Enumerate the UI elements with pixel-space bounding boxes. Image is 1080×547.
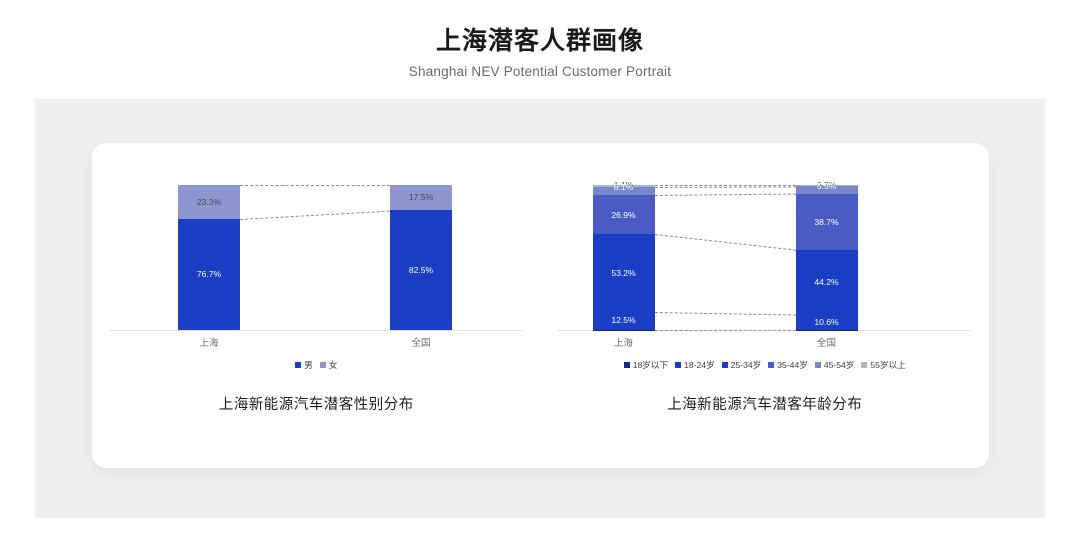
bar-segment-label: 82.5% (409, 266, 433, 275)
age-chart-category-labels: 上海全国 (541, 335, 990, 351)
legend-item-55岁以上[interactable]: 55岁以上 (861, 359, 905, 371)
gender-chart: 23.3%76.7%17.5%82.5% 上海全国 男女 上海新能源汽车潜客性别… (92, 143, 541, 468)
stacked-bar-上海[interactable]: 1.1%6.1%26.9%53.2%12.5%0.2% (593, 185, 655, 330)
legend-item-18-24岁[interactable]: 18-24岁 (675, 359, 715, 371)
bar-segment[interactable]: 23.3% (178, 185, 240, 219)
segment-connector-line (240, 210, 390, 219)
legend-item-男[interactable]: 男 (295, 359, 313, 371)
bar-segment[interactable]: 26.9% (593, 195, 655, 234)
bar-segment[interactable]: 5.5% (796, 186, 858, 194)
category-label-上海: 上海 (614, 335, 633, 349)
page-header: 上海潜客人群画像 Shanghai NEV Potential Customer… (0, 0, 1080, 100)
age-bars-area: 1.1%6.1%26.9%53.2%12.5%0.2%0.7%5.5%38.7%… (541, 185, 990, 330)
legend-item-label: 45-54岁 (824, 359, 855, 371)
legend-item-label: 女 (329, 359, 338, 371)
gender-chart-legend: 男女 (92, 359, 541, 371)
gender-chart-caption: 上海新能源汽车潜客性别分布 (92, 393, 541, 414)
bar-segment[interactable]: 17.5% (390, 185, 452, 210)
segment-connector-line (240, 185, 390, 186)
bar-segment-label: 10.6% (814, 318, 838, 327)
legend-item-45-54岁[interactable]: 45-54岁 (815, 359, 855, 371)
legend-item-女[interactable]: 女 (320, 359, 338, 371)
segment-connector-line (654, 312, 795, 316)
legend-item-label: 55岁以上 (870, 359, 905, 371)
legend-item-label: 18岁以下 (633, 359, 668, 371)
age-chart: 1.1%6.1%26.9%53.2%12.5%0.2%0.7%5.5%38.7%… (541, 143, 990, 468)
charts-row: 23.3%76.7%17.5%82.5% 上海全国 男女 上海新能源汽车潜客性别… (92, 143, 989, 468)
legend-swatch-icon (295, 362, 301, 368)
bar-segment[interactable]: 10.6% (796, 314, 858, 329)
stacked-bar-上海[interactable]: 23.3%76.7% (178, 185, 240, 330)
age-chart-caption: 上海新能源汽车潜客年龄分布 (541, 393, 990, 414)
legend-item-label: 男 (304, 359, 313, 371)
legend-swatch-icon (722, 362, 728, 368)
bar-segment-label: 38.7% (814, 218, 838, 227)
bar-segment-label: 17.5% (409, 193, 433, 202)
category-label-全国: 全国 (817, 335, 836, 349)
legend-swatch-icon (320, 362, 326, 368)
gender-bars-area: 23.3%76.7%17.5%82.5% (92, 185, 541, 330)
bar-segment[interactable]: 6.1% (593, 187, 655, 196)
legend-item-35-44岁[interactable]: 35-44岁 (768, 359, 808, 371)
bar-segment-label: 6.1% (614, 183, 634, 192)
bar-segment[interactable]: 44.2% (796, 250, 858, 314)
legend-swatch-icon (624, 362, 630, 368)
bar-segment-label: 76.7% (197, 270, 221, 279)
bar-segment[interactable]: 76.7% (178, 219, 240, 330)
bar-segment-label: 53.2% (611, 269, 635, 278)
bar-segment[interactable]: 12.5% (593, 312, 655, 330)
legend-swatch-icon (768, 362, 774, 368)
stacked-bar-全国[interactable]: 17.5%82.5% (390, 185, 452, 330)
page-title: 上海潜客人群画像 (436, 26, 644, 56)
age-chart-plot: 1.1%6.1%26.9%53.2%12.5%0.2%0.7%5.5%38.7%… (541, 185, 990, 330)
legend-swatch-icon (675, 362, 681, 368)
segment-connector-line (654, 234, 795, 251)
legend-swatch-icon (815, 362, 821, 368)
legend-item-label: 35-44岁 (777, 359, 808, 371)
stacked-bar-全国[interactable]: 0.7%5.5%38.7%44.2%10.6%0.2% (796, 185, 858, 330)
gender-chart-plot: 23.3%76.7%17.5%82.5% (92, 185, 541, 330)
charts-card: 23.3%76.7%17.5%82.5% 上海全国 男女 上海新能源汽车潜客性别… (92, 143, 989, 468)
legend-item-18岁以下[interactable]: 18岁以下 (624, 359, 668, 371)
bar-segment-label: 44.2% (814, 278, 838, 287)
segment-connector-line (655, 185, 796, 186)
legend-item-label: 25-34岁 (731, 359, 762, 371)
segment-connector-line (655, 194, 796, 196)
bar-segment-label: 26.9% (611, 211, 635, 220)
segment-connector-line (655, 186, 796, 188)
legend-item-label: 18-24岁 (684, 359, 715, 371)
bar-segment[interactable]: 53.2% (593, 234, 655, 311)
age-chart-legend: 18岁以下18-24岁25-34岁35-44岁45-54岁55岁以上 (541, 359, 990, 371)
page-subtitle: Shanghai NEV Potential Customer Portrait (409, 64, 671, 79)
bar-segment-label: 23.3% (197, 198, 221, 207)
bar-segment-label: 5.5% (817, 182, 837, 191)
category-label-全国: 全国 (411, 335, 430, 349)
bar-segment-label: 12.5% (611, 316, 635, 325)
legend-item-25-34岁[interactable]: 25-34岁 (722, 359, 762, 371)
bar-segment[interactable]: 82.5% (390, 210, 452, 330)
chart-axis-line (110, 330, 523, 331)
bar-segment[interactable]: 38.7% (796, 194, 858, 250)
category-label-上海: 上海 (199, 335, 218, 349)
gender-chart-category-labels: 上海全国 (92, 335, 541, 351)
legend-swatch-icon (861, 362, 867, 368)
